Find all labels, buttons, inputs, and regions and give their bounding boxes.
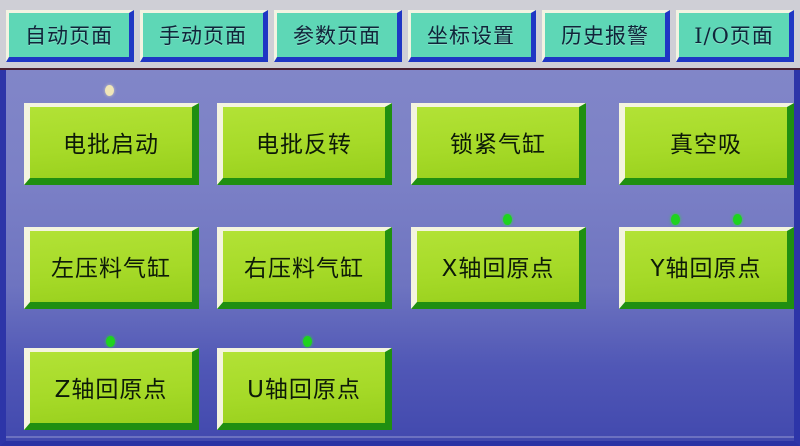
button-right-press-cylinder[interactable]: 右压料气缸 — [217, 227, 392, 309]
lamp-screwdriver-start-icon — [105, 85, 114, 96]
button-lock-cylinder[interactable]: 锁紧气缸 — [411, 103, 586, 185]
tab-parameter-page[interactable]: 参数页面 — [274, 10, 402, 62]
tab-label: 坐标设置 — [427, 20, 515, 50]
tab-label: 自动页面 — [25, 20, 113, 50]
button-z-axis-home[interactable]: Z轴回原点 — [24, 348, 199, 430]
button-y-axis-home[interactable]: Y轴回原点 — [619, 227, 794, 309]
button-left-press-cylinder[interactable]: 左压料气缸 — [24, 227, 199, 309]
button-label: 真空吸 — [670, 125, 742, 159]
button-label: 右压料气缸 — [244, 249, 364, 283]
hmi-screen: 自动页面手动页面参数页面坐标设置历史报警I/O页面 电批启动电批反转锁紧气缸真空… — [0, 0, 800, 446]
button-screwdriver-start[interactable]: 电批启动 — [24, 103, 199, 185]
button-label: U轴回原点 — [247, 370, 361, 404]
tab-label: I/O页面 — [694, 20, 774, 50]
manual-control-panel: 电批启动电批反转锁紧气缸真空吸左压料气缸右压料气缸X轴回原点Y轴回原点Z轴回原点… — [0, 70, 800, 446]
button-screwdriver-reverse[interactable]: 电批反转 — [217, 103, 392, 185]
button-label: Z轴回原点 — [55, 370, 168, 404]
tab-label: 手动页面 — [159, 20, 247, 50]
button-label: 电批反转 — [256, 125, 352, 159]
tab-alarm-history[interactable]: 历史报警 — [542, 10, 670, 62]
lamp-z-axis-home-icon — [106, 336, 115, 347]
lamp-y-axis-home-1-icon — [671, 214, 680, 225]
tab-coordinate-settings[interactable]: 坐标设置 — [408, 10, 536, 62]
lamp-x-axis-home-icon — [503, 214, 512, 225]
button-x-axis-home[interactable]: X轴回原点 — [411, 227, 586, 309]
page-navigation-tabbar: 自动页面手动页面参数页面坐标设置历史报警I/O页面 — [0, 0, 800, 70]
tab-auto-page[interactable]: 自动页面 — [6, 10, 134, 62]
button-label: 电批启动 — [63, 125, 159, 159]
button-label: 左压料气缸 — [51, 249, 171, 283]
tab-manual-page[interactable]: 手动页面 — [140, 10, 268, 62]
lamp-y-axis-home-2-icon — [733, 214, 742, 225]
tab-io-page[interactable]: I/O页面 — [676, 10, 794, 62]
button-u-axis-home[interactable]: U轴回原点 — [217, 348, 392, 430]
tab-label: 历史报警 — [561, 20, 649, 50]
button-label: X轴回原点 — [442, 249, 555, 283]
button-label: 锁紧气缸 — [450, 125, 546, 159]
lamp-u-axis-home-icon — [303, 336, 312, 347]
tab-label: 参数页面 — [293, 20, 381, 50]
button-vacuum-suction[interactable]: 真空吸 — [619, 103, 794, 185]
button-label: Y轴回原点 — [650, 249, 761, 283]
